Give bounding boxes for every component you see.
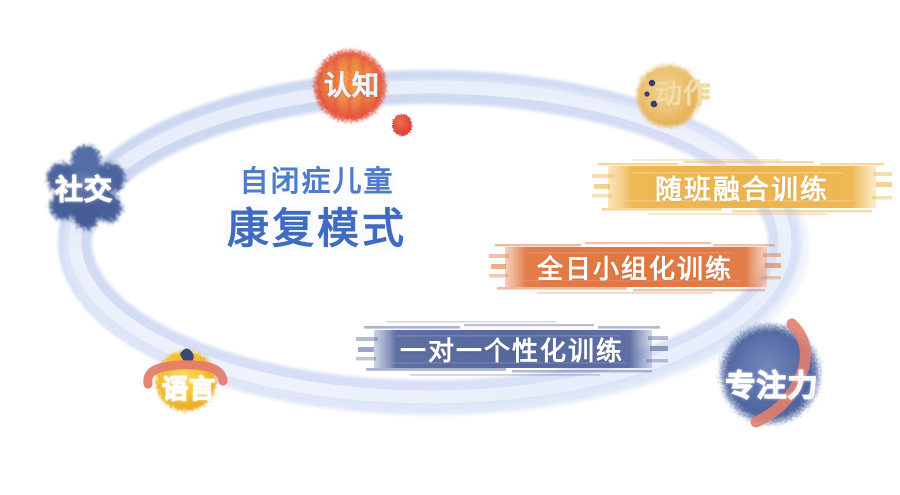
- banner-label: 一对一个性化训练: [400, 331, 624, 368]
- banner-fullday-group-training[interactable]: 全日小组化训练: [489, 238, 781, 296]
- node-label: 认知: [324, 64, 380, 103]
- node-label: 语言: [162, 369, 216, 406]
- title-subtitle: 自闭症儿童: [212, 166, 422, 199]
- infographic-poster: 自闭症儿童 康复模式: [0, 0, 900, 495]
- banner-one-on-one-training[interactable]: 一对一个性化训练: [356, 320, 668, 378]
- banner-inclusive-training[interactable]: 随班融合训练: [592, 156, 892, 218]
- orbit-node-language[interactable]: 语言: [140, 336, 232, 426]
- title-main: 康复模式: [212, 206, 422, 252]
- orbit-node-motion[interactable]: 动作: [624, 50, 718, 142]
- orbit-node-social[interactable]: 社交: [34, 138, 138, 238]
- orbit-node-focus[interactable]: 专注力: [708, 312, 836, 438]
- orbit-node-cognition[interactable]: 认知: [300, 38, 400, 136]
- banner-label: 随班融合训练: [655, 168, 829, 207]
- banner-label: 全日小组化训练: [537, 249, 733, 286]
- node-label: 专注力: [726, 361, 819, 405]
- node-label: 动作: [655, 72, 711, 111]
- page-title: 自闭症儿童 康复模式: [212, 166, 422, 253]
- node-label: 社交: [55, 168, 113, 208]
- red-dot-icon: [390, 112, 414, 138]
